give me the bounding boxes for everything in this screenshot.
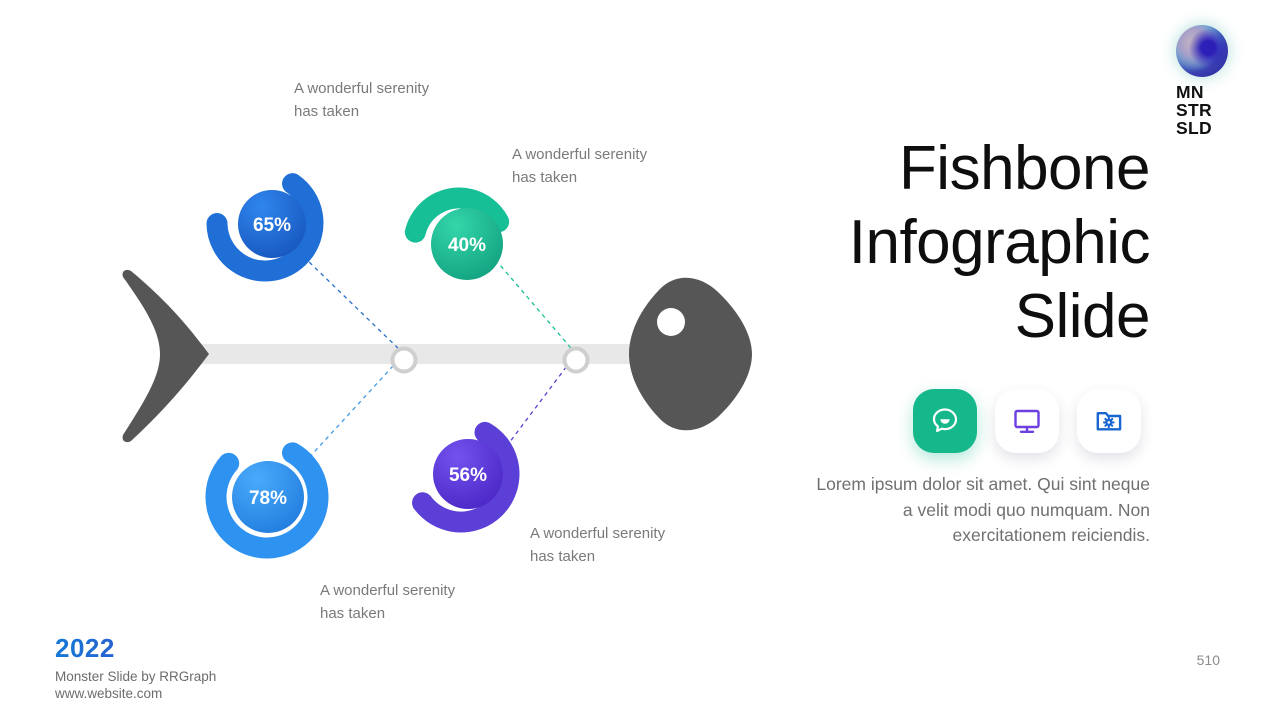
donut-value-65: 65%	[253, 215, 291, 236]
logo-line-1: MN	[1176, 83, 1232, 101]
footer-website[interactable]: www.website.com	[55, 685, 216, 702]
connector-line-bottom-left	[305, 354, 404, 462]
page-title: Fishbone Infographic Slide	[550, 132, 1150, 354]
slide-canvas: 65% 40% 78% 56% A wonderful serenity has…	[0, 0, 1280, 720]
monitor-icon	[1010, 404, 1044, 438]
connector-line-bottom-right	[500, 354, 576, 455]
folder-settings-icon	[1092, 404, 1126, 438]
title-line-2: Infographic	[550, 206, 1150, 280]
logo-text: MN STR SLD	[1176, 83, 1232, 137]
spine-node-1[interactable]	[393, 349, 416, 372]
chat-bubble-button[interactable]	[913, 389, 977, 453]
logo-line-2: STR	[1176, 101, 1232, 119]
donut-value-78: 78%	[249, 488, 287, 509]
title-line-1: Fishbone	[550, 132, 1150, 206]
label-bottom-left: A wonderful serenity has taken	[320, 579, 455, 625]
fishbone-diagram: 65% 40% 78% 56% A wonderful serenity has…	[0, 0, 800, 720]
chat-bubble-icon	[928, 404, 962, 438]
monitor-button[interactable]	[995, 389, 1059, 453]
label-bottom-right: A wonderful serenity has taken	[530, 522, 665, 568]
title-line-3: Slide	[550, 280, 1150, 354]
footer: 2022 Monster Slide by RRGraph www.websit…	[55, 633, 216, 702]
fish-tail	[123, 270, 209, 442]
feature-icon-row	[913, 389, 1141, 453]
gradient-sphere-logo-icon	[1176, 25, 1228, 77]
donut-value-40: 40%	[448, 235, 486, 256]
folder-settings-button[interactable]	[1077, 389, 1141, 453]
brand-logo: MN STR SLD	[1176, 25, 1232, 137]
label-top-left: A wonderful serenity has taken	[294, 77, 429, 123]
logo-line-3: SLD	[1176, 119, 1232, 137]
footer-year: 2022	[55, 633, 216, 664]
body-paragraph: Lorem ipsum dolor sit amet. Qui sint neq…	[810, 472, 1150, 549]
donut-value-56: 56%	[449, 465, 487, 486]
connector-line-top-left	[305, 258, 404, 354]
page-number: 510	[1197, 652, 1220, 668]
footer-credit: Monster Slide by RRGraph	[55, 668, 216, 685]
